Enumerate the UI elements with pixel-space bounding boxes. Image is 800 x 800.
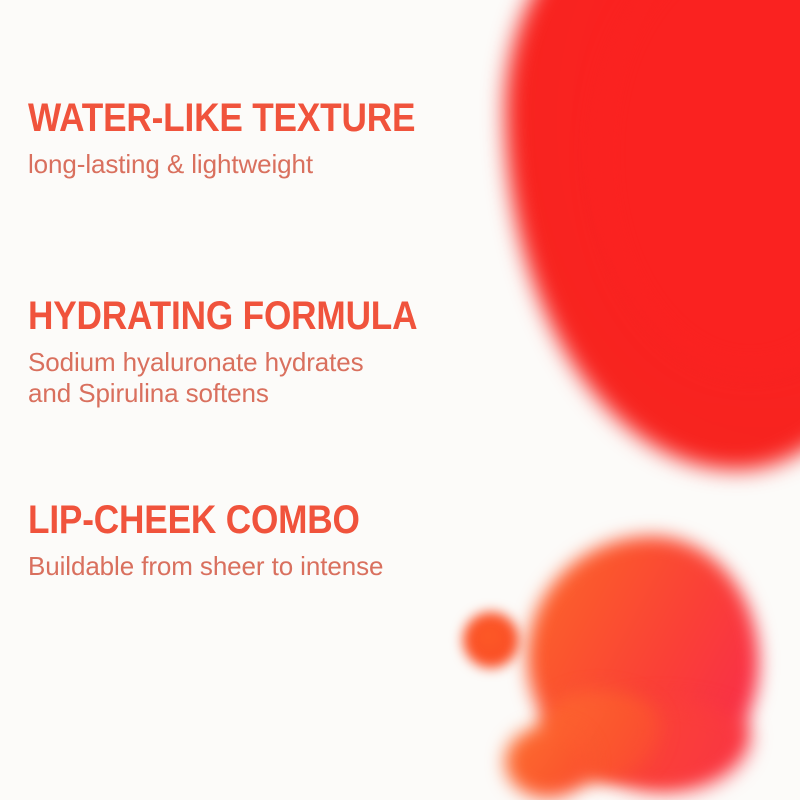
feature-subtitle: Buildable from sheer to intense xyxy=(28,551,498,582)
feature-subtitle-line: long-lasting & lightweight xyxy=(28,149,498,180)
feature-item-lip-cheek-combo: LIP-CHEEK COMBO Buildable from sheer to … xyxy=(28,500,498,582)
feature-subtitle: Sodium hyaluronate hydrates and Spirulin… xyxy=(28,347,498,409)
feature-subtitle-line: Sodium hyaluronate hydrates xyxy=(28,347,498,378)
feature-item-water-like-texture: WATER-LIKE TEXTURE long-lasting & lightw… xyxy=(28,98,498,180)
feature-title: WATER-LIKE TEXTURE xyxy=(28,98,442,140)
feature-title: HYDRATING FORMULA xyxy=(28,296,442,338)
feature-subtitle: long-lasting & lightweight xyxy=(28,149,498,180)
feature-subtitle-line: and Spirulina softens xyxy=(28,378,498,409)
feature-item-hydrating-formula: HYDRATING FORMULA Sodium hyaluronate hyd… xyxy=(28,296,498,409)
feature-list: WATER-LIKE TEXTURE long-lasting & lightw… xyxy=(0,0,800,800)
product-feature-graphic: WATER-LIKE TEXTURE long-lasting & lightw… xyxy=(0,0,800,800)
feature-subtitle-line: Buildable from sheer to intense xyxy=(28,551,498,582)
feature-title: LIP-CHEEK COMBO xyxy=(28,500,442,542)
